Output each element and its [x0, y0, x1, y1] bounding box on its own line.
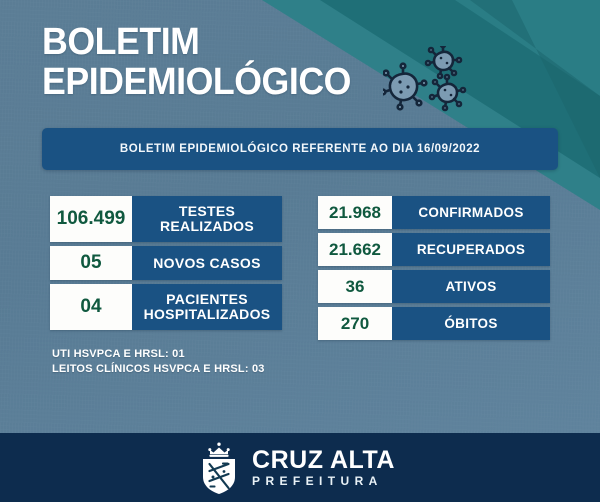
note-line-leitos: LEITOS CLÍNICOS HSVPCA E HRSL: 03 — [52, 362, 372, 377]
stat-value: 21.968 — [318, 196, 392, 229]
stat-label: TESTES REALIZADOS — [132, 196, 282, 242]
epidemiological-bulletin-poster: BOLETIM EPIDEMIOLÓGICO — [0, 0, 600, 502]
footer-logo-group: CRUZ ALTA PREFEITURA — [197, 441, 395, 495]
brand-subtitle: PREFEITURA — [252, 474, 395, 488]
stats-column-left: 106.499 TESTES REALIZADOS 05 NOVOS CASOS… — [50, 196, 282, 330]
stat-label: RECUPERADOS — [392, 233, 550, 266]
note-line-uti: UTI HSVPCA E HRSL: 01 — [52, 347, 372, 362]
stat-label: PACIENTES HOSPITALIZADOS — [132, 284, 282, 330]
stat-value: 106.499 — [50, 196, 132, 242]
stat-value: 04 — [50, 284, 132, 330]
date-banner: BOLETIM EPIDEMIOLÓGICO REFERENTE AO DIA … — [42, 128, 558, 170]
table-row: 21.662 RECUPERADOS — [318, 233, 550, 266]
table-row: 05 NOVOS CASOS — [50, 246, 282, 280]
stat-label: ATIVOS — [392, 270, 550, 303]
page-title: BOLETIM EPIDEMIOLÓGICO — [42, 22, 442, 102]
table-row: 106.499 TESTES REALIZADOS — [50, 196, 282, 242]
stat-label: NOVOS CASOS — [132, 246, 282, 280]
stat-value: 36 — [318, 270, 392, 303]
brand-text: CRUZ ALTA PREFEITURA — [252, 448, 395, 488]
footer-bar: CRUZ ALTA PREFEITURA — [0, 433, 600, 502]
virus-icon — [383, 46, 475, 116]
table-row: 21.968 CONFIRMADOS — [318, 196, 550, 229]
notes-block: UTI HSVPCA E HRSL: 01 LEITOS CLÍNICOS HS… — [52, 347, 372, 377]
table-row: 04 PACIENTES HOSPITALIZADOS — [50, 284, 282, 330]
table-row: 36 ATIVOS — [318, 270, 550, 303]
stat-value: 05 — [50, 246, 132, 280]
stat-value: 21.662 — [318, 233, 392, 266]
table-row: 270 ÓBITOS — [318, 307, 550, 340]
title-line-2: EPIDEMIOLÓGICO — [42, 62, 418, 102]
stat-label: ÓBITOS — [392, 307, 550, 340]
stat-value: 270 — [318, 307, 392, 340]
title-line-1: BOLETIM — [42, 22, 418, 62]
brand-city: CRUZ ALTA — [252, 448, 395, 473]
stat-label: CONFIRMADOS — [392, 196, 550, 229]
coat-of-arms-icon — [197, 441, 241, 495]
stats-column-right: 21.968 CONFIRMADOS 21.662 RECUPERADOS 36… — [318, 196, 550, 340]
date-banner-text: BOLETIM EPIDEMIOLÓGICO REFERENTE AO DIA … — [120, 143, 480, 155]
